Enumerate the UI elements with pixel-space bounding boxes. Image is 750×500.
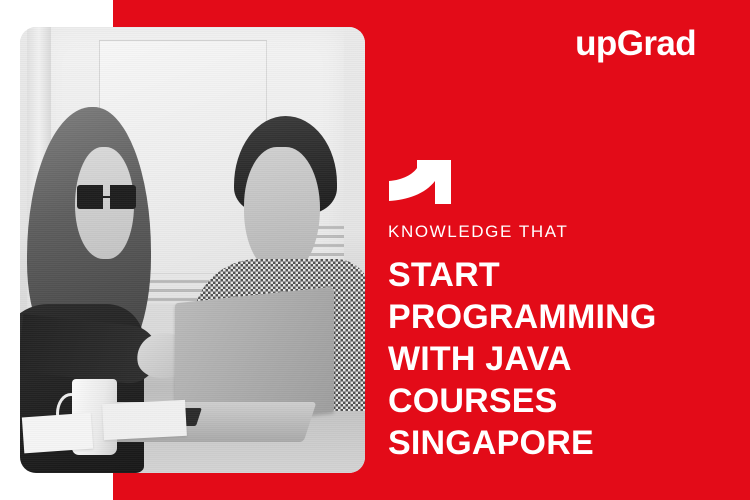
upward-arrow-icon [389, 160, 473, 204]
headline-line-3: WITH JAVA [388, 338, 733, 380]
hero-photo [20, 27, 365, 473]
banner-canvas: upGrad KNOWLEDGE THAT START PROGRAMMING … [0, 0, 750, 500]
paper-sheet [22, 413, 93, 453]
upward-arrow-glyph [389, 160, 473, 204]
headline-line-5: SINGAPORE [388, 422, 733, 464]
photo-scene [20, 27, 365, 473]
headline-line-2: PROGRAMMING [388, 296, 733, 338]
glasses-icon [77, 185, 136, 208]
eyebrow-text: KNOWLEDGE THAT [388, 222, 568, 242]
upgrad-wordmark: upGrad [575, 26, 696, 61]
paper-sheet [102, 399, 187, 439]
man-face [244, 147, 320, 272]
headline: START PROGRAMMING WITH JAVA COURSES SING… [388, 254, 733, 464]
headline-line-1: START [388, 254, 733, 296]
headline-line-4: COURSES [388, 380, 733, 422]
content-column: upGrad KNOWLEDGE THAT START PROGRAMMING … [388, 0, 728, 500]
